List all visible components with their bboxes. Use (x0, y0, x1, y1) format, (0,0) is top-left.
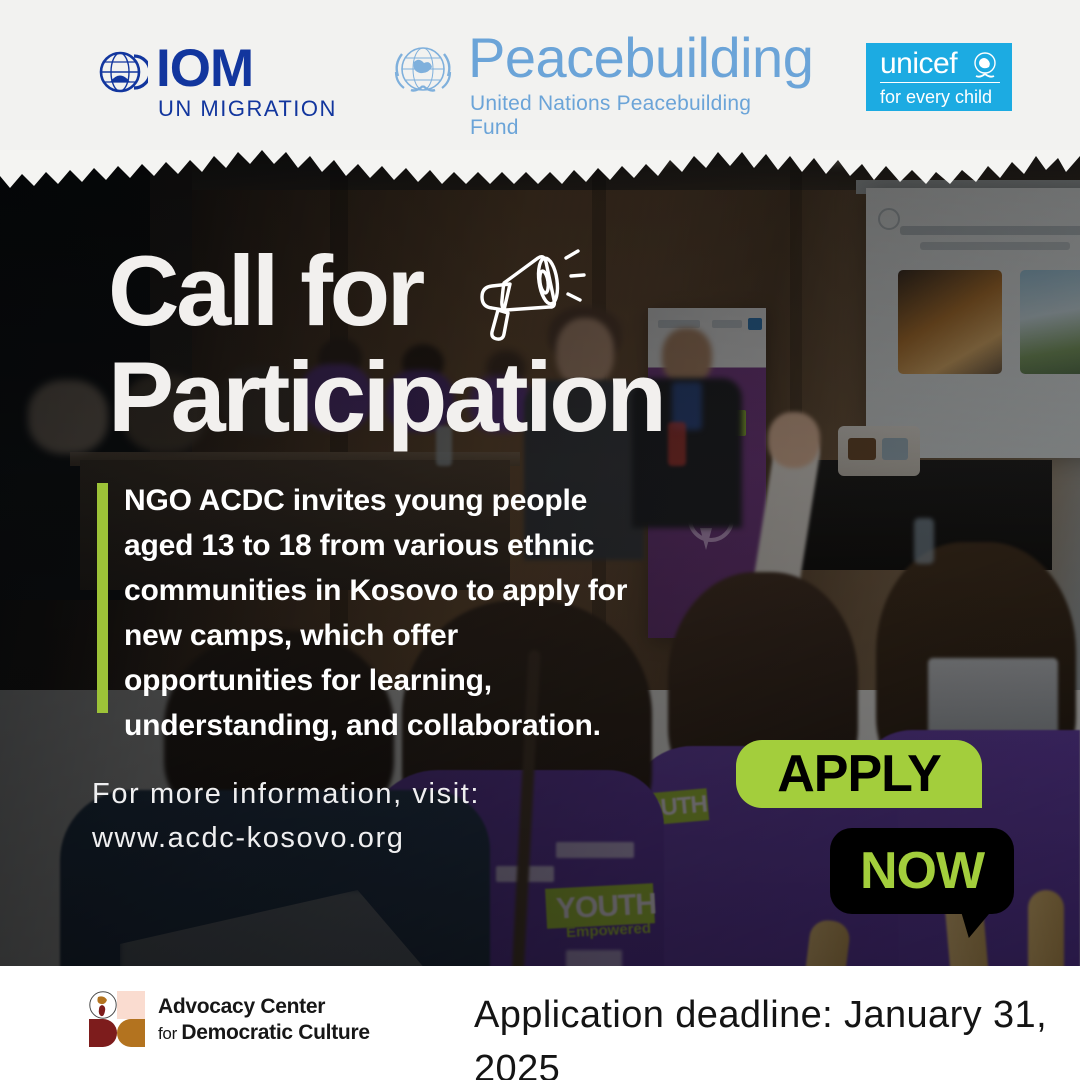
website-url[interactable]: www.acdc-kosovo.org (92, 816, 612, 860)
poster-footer: Advocacy Center for Democratic Culture A… (0, 966, 1080, 1080)
acdc-globe-blocks-icon (88, 990, 146, 1048)
headline-line-1: Call for (108, 235, 422, 346)
acdc-democratic-culture-text: Democratic Culture (181, 1021, 369, 1044)
application-deadline: Application deadline: January 31, 2025 (474, 988, 1080, 1080)
acdc-logo: Advocacy Center for Democratic Culture (88, 984, 388, 1056)
megaphone-icon (468, 242, 590, 342)
poster: YOUTH YOUTH Empowered (0, 0, 1080, 1080)
acdc-for-text: for (158, 1024, 181, 1043)
speech-bubble-tail (960, 908, 994, 938)
acdc-name-line-1: Advocacy Center (158, 994, 325, 1020)
now-button-label: NOW (830, 828, 1014, 914)
body-paragraph: NGO ACDC invites young people aged 13 to… (124, 478, 644, 748)
now-button[interactable]: NOW (830, 828, 1014, 914)
more-info-text: For more information, visit: www.acdc-ko… (92, 772, 612, 860)
acdc-name-line-2: for Democratic Culture (158, 1020, 370, 1047)
poster-content: Call for Participation NGO ACDC invites … (0, 0, 1080, 1080)
info-line-1: For more information, visit: (92, 778, 480, 810)
headline-line-2: Participation (108, 344, 828, 450)
apply-button[interactable]: APPLY (736, 740, 982, 808)
apply-button-label: APPLY (736, 740, 982, 808)
green-accent-bar (97, 483, 108, 713)
